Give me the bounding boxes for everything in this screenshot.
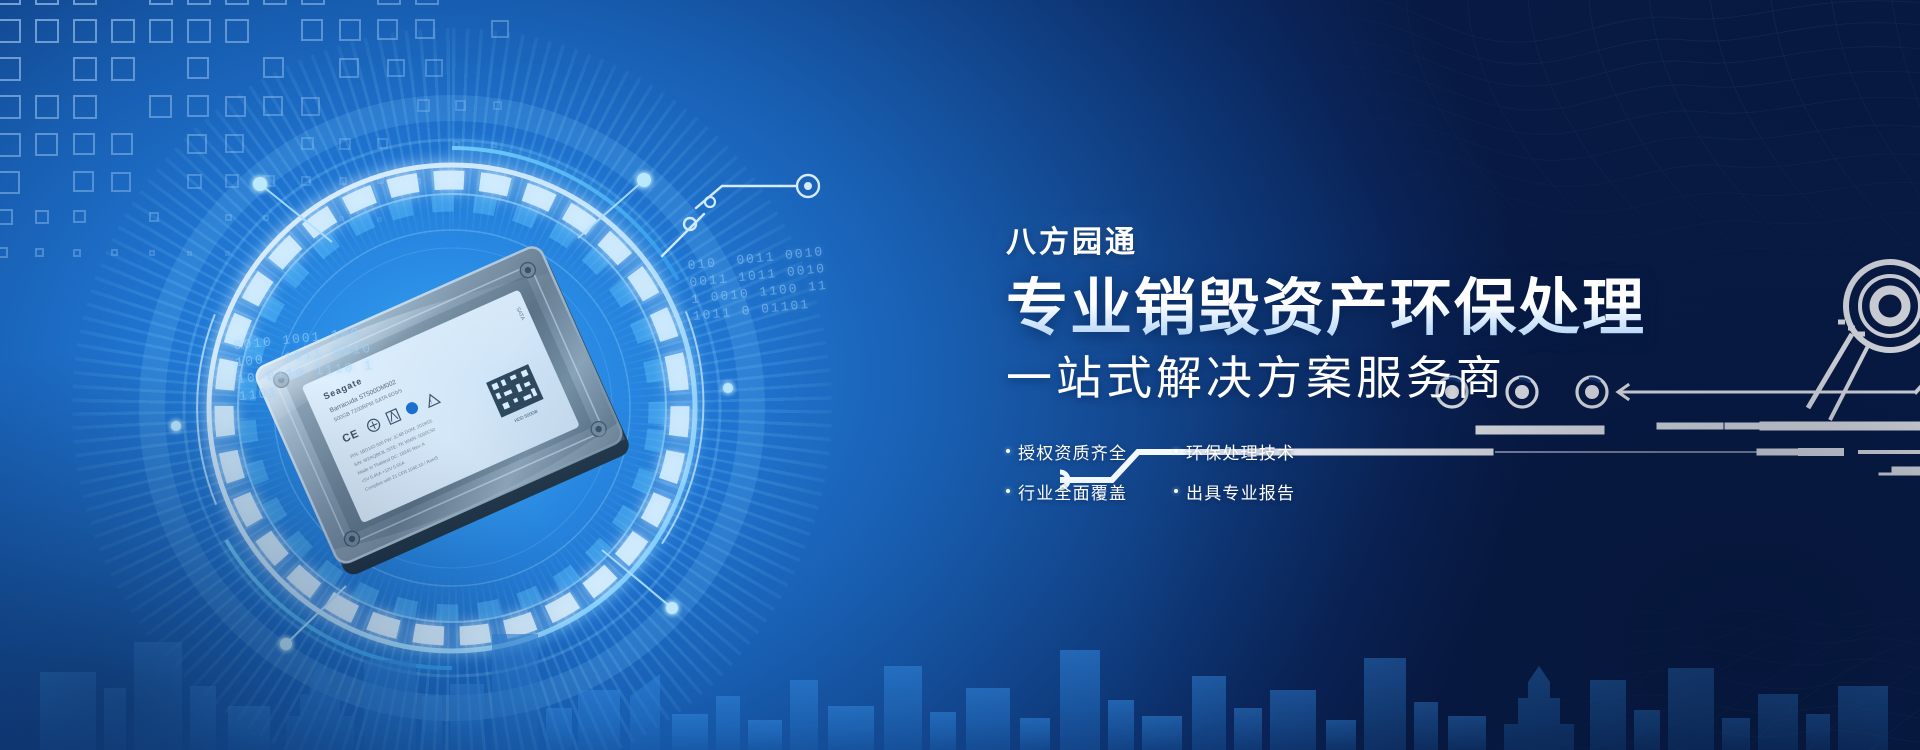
feature-item-1: 授权资质齐全	[1006, 439, 1154, 464]
tech-ring-arcs	[132, 88, 772, 728]
promo-banner: Seagate Barracuda ST500DM002 500GB 7200R…	[0, 0, 1920, 750]
svg-text:Seagate: Seagate	[322, 376, 364, 402]
headline-text: 专业销毁资产环保处理	[1006, 276, 1746, 342]
svg-text:P/N: 1BD142-500 FW: JC4B D: P/N: 1BD142-500 FW: JC4B DOM: 2019/05	[349, 418, 433, 459]
svg-text:+5V 0.45A +12V 0.55A: +5V 0.45A +12V 0.55A	[360, 460, 406, 484]
svg-text:S/N: W2AQ8K3L SITE: TK W: S/N: W2AQ8K3L SITE: TK WWN: 5000C50	[353, 427, 436, 468]
ring-outer-glow	[102, 58, 802, 750]
circuit-node-edge-decoration	[1778, 238, 1920, 438]
feature-item-4: 出具专业报告	[1174, 479, 1336, 504]
wireframe-mesh-bottom-right	[1400, 510, 1920, 750]
city-skyline-silhouette	[0, 530, 1920, 750]
pixel-mosaic-decoration	[0, 0, 694, 322]
svg-text:SATA: SATA	[514, 306, 525, 321]
svg-text:!: !	[430, 400, 434, 406]
radial-ray-burst	[72, 28, 832, 750]
svg-text:CE: CE	[341, 427, 362, 445]
banner-copy-block: 八方园通 专业销毁资产环保处理 一站式解决方案服务商 授权资质齐全 环保处理技术…	[1006, 228, 1746, 504]
connector-line-decoration	[660, 168, 930, 258]
svg-text:Complies with 21 CFR 1040.10 /: Complies with 21 CFR 1040.10 / RoHS	[364, 455, 439, 492]
feature-label: 授权资质齐全	[1018, 439, 1127, 464]
feature-label: 出具专业报告	[1186, 479, 1295, 504]
brand-name: 八方园通	[1006, 228, 1746, 258]
feature-list: 授权资质齐全 环保处理技术 行业全面覆盖 出具专业报告	[1006, 439, 1336, 504]
binary-code-decoration-left: 0010 1001 100 100 1011 0010 10 0110 1110…	[233, 323, 377, 405]
feature-label: 环保处理技术	[1186, 439, 1295, 464]
hard-disk-drive-image: Seagate Barracuda ST500DM002 500GB 7200R…	[243, 230, 646, 593]
svg-text:500GB 7200RPM SATA 6Gb/s: 500GB 7200RPM SATA 6Gb/s	[333, 388, 403, 424]
feature-item-3: 行业全面覆盖	[1006, 479, 1154, 504]
feature-item-2: 环保处理技术	[1174, 439, 1336, 464]
feature-label: 行业全面覆盖	[1018, 479, 1127, 504]
bullet-dot-icon	[1006, 449, 1010, 453]
bullet-dot-icon	[1174, 449, 1178, 453]
svg-text:HDD 500GB: HDD 500GB	[514, 409, 539, 424]
hdd-tech-ring-graphic: Seagate Barracuda ST500DM002 500GB 7200R…	[132, 88, 772, 728]
binary-code-decoration-right: 010 0011 0010 0011 1011 0010 1 0010 1100…	[687, 243, 831, 325]
bullet-dot-icon	[1174, 489, 1178, 493]
svg-text:Made in Thailand DC: 18345: Made in Thailand DC: 18345 Rev: A	[357, 441, 427, 476]
subheadline-text: 一站式解决方案服务商	[1006, 352, 1746, 405]
bullet-dot-icon	[1006, 489, 1010, 493]
svg-text:Barracuda ST500DM002: Barracuda ST500DM002	[329, 379, 398, 415]
